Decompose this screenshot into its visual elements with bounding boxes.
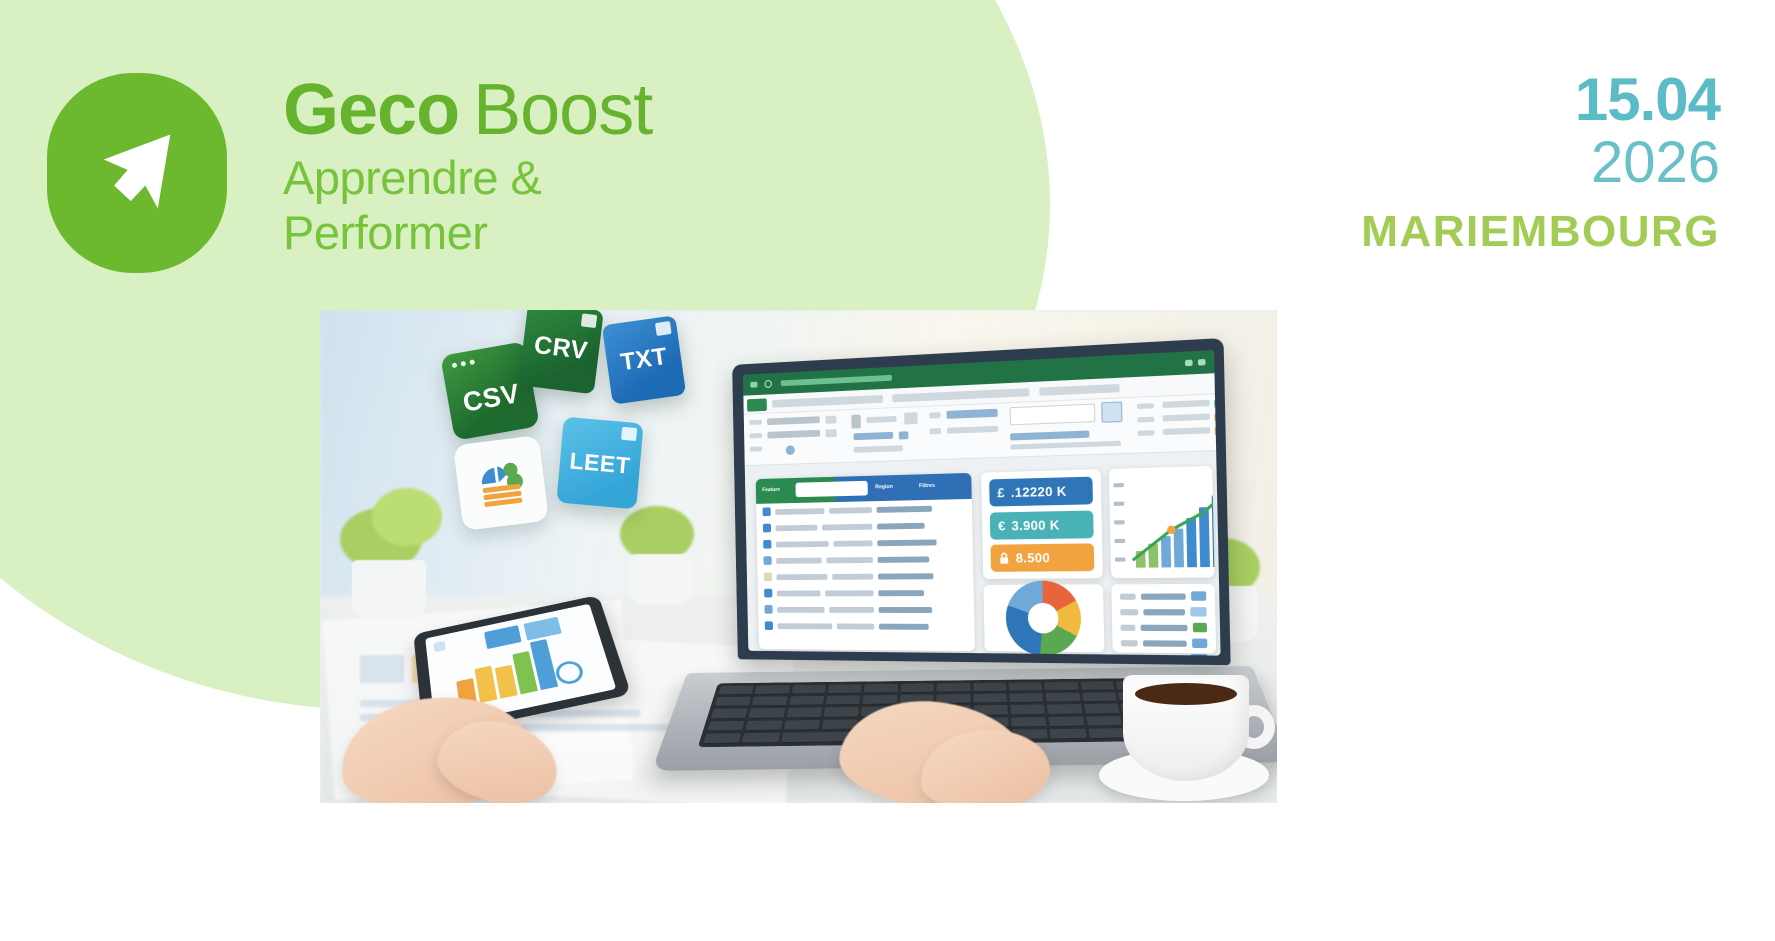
leet-file-icon: LEET (556, 417, 643, 510)
list-cell (1121, 624, 1136, 630)
poster-canvas: GecoBoost Apprendre & Performer 15.04 20… (0, 0, 1775, 941)
list-chip (1193, 623, 1207, 633)
row-cell (878, 590, 924, 596)
list-item[interactable] (1121, 654, 1208, 656)
crv-file-icon: CRV (518, 310, 604, 394)
ribbon-control[interactable] (929, 412, 941, 418)
row-cell (777, 606, 825, 612)
axis-tick-label (1113, 483, 1124, 487)
key[interactable] (973, 694, 1007, 704)
row-cell (833, 540, 872, 546)
laptop-screen: Feature Region Filtres (743, 350, 1221, 656)
desk-text-line (520, 724, 670, 731)
pound-icon: £ (997, 485, 1005, 500)
ribbon-control[interactable] (749, 433, 762, 438)
list-cell (1121, 640, 1138, 646)
kpi-card: £ .12220 K € 3.900 K 8.500 (981, 469, 1103, 579)
row-cell (879, 623, 929, 629)
document-title (781, 375, 892, 386)
row-swatch (763, 524, 771, 533)
key[interactable] (1088, 728, 1125, 739)
table-search-input[interactable] (795, 481, 867, 497)
plant-pot (352, 560, 426, 618)
txt-file-icon: TXT (602, 315, 686, 405)
row-cell (877, 522, 925, 529)
row-swatch (764, 572, 772, 581)
event-location: MARIEMBOURG (1361, 207, 1720, 257)
brand-title-thin: Boost (473, 70, 652, 150)
row-cell (879, 607, 933, 613)
table-header-filter-label[interactable]: Filtres (919, 483, 935, 489)
file-dogear-icon (581, 313, 597, 328)
leet-file-label: LEET (569, 447, 632, 479)
formula-bar[interactable] (772, 395, 883, 408)
table-row[interactable] (757, 550, 973, 569)
table-row[interactable] (757, 567, 973, 585)
key[interactable] (1082, 692, 1117, 702)
key[interactable] (1080, 681, 1115, 690)
ribbon-control[interactable] (767, 430, 820, 439)
table-row[interactable] (758, 617, 974, 635)
selected-cell[interactable] (1101, 401, 1122, 422)
brand-block: GecoBoost Apprendre & Performer (283, 70, 652, 260)
ribbon-control[interactable] (1137, 403, 1154, 409)
back-icon[interactable] (750, 382, 757, 388)
key[interactable] (973, 683, 1007, 693)
list-cell (1141, 593, 1186, 599)
key[interactable] (707, 721, 745, 732)
ribbon-control[interactable] (929, 428, 941, 434)
key[interactable] (1086, 716, 1122, 726)
secondary-list-card (1111, 584, 1216, 654)
list-item[interactable] (1120, 591, 1207, 601)
kpi-pound-value: .12220 K (1011, 483, 1067, 500)
ribbon-control[interactable] (1163, 427, 1210, 435)
row-cell (832, 573, 873, 579)
geco-boost-logo-mark (47, 73, 227, 273)
key[interactable] (864, 684, 898, 694)
key[interactable] (1047, 704, 1082, 714)
donut-chart (1005, 580, 1082, 655)
kpi-euro[interactable]: € 3.900 K (990, 510, 1094, 539)
chart-file-icon (453, 435, 549, 531)
ribbon-control[interactable] (851, 415, 861, 429)
key[interactable] (711, 709, 748, 719)
row-cell (829, 607, 874, 613)
ribbon-control[interactable] (826, 429, 837, 437)
brand-title-bold: Geco (283, 70, 459, 150)
laptop-lid: Feature Region Filtres (732, 338, 1231, 665)
growth-bar-chart (1109, 466, 1215, 578)
row-cell (776, 574, 827, 580)
key[interactable] (718, 686, 754, 696)
tablet-widget (484, 625, 522, 649)
ribbon-control[interactable] (1137, 417, 1154, 423)
tablet-widget (523, 617, 561, 641)
row-cell (878, 556, 930, 562)
window-dots-icon (452, 359, 476, 368)
row-cell (776, 541, 829, 548)
table-row[interactable] (758, 584, 974, 601)
key[interactable] (1044, 682, 1078, 692)
table-header-feature-label: Feature (762, 487, 780, 493)
key[interactable] (748, 708, 785, 718)
row-cell (777, 590, 821, 596)
key[interactable] (703, 733, 742, 744)
axis-tick-label (1114, 520, 1125, 524)
ribbon-control[interactable] (854, 445, 903, 453)
key[interactable] (1011, 717, 1047, 727)
axis-tick-label (1115, 557, 1126, 561)
list-chip (1191, 654, 1208, 655)
file-dogear-icon (655, 321, 672, 336)
kpi-euro-value: 3.900 K (1011, 517, 1059, 533)
key[interactable] (1050, 729, 1087, 740)
key[interactable] (1009, 693, 1043, 703)
row-cell (822, 523, 872, 530)
key[interactable] (745, 720, 782, 731)
ribbon-control[interactable] (825, 416, 836, 424)
key[interactable] (755, 685, 791, 695)
coffee-cup (1123, 675, 1249, 781)
ribbon-control[interactable] (750, 446, 763, 451)
axis-tick-label (1115, 539, 1126, 543)
minimize-icon[interactable] (1185, 360, 1193, 367)
status-dot (1214, 399, 1221, 408)
list-cell (1120, 593, 1136, 599)
ribbon-control[interactable] (786, 445, 795, 455)
ribbon-tab-group[interactable] (1039, 384, 1119, 396)
event-date-block: 15.04 2026 (1575, 70, 1720, 192)
key[interactable] (1010, 705, 1045, 715)
row-cell (826, 557, 873, 563)
dashboard-body: Feature Region Filtres (745, 451, 1221, 655)
key[interactable] (824, 707, 860, 717)
file-dogear-icon (621, 427, 637, 441)
brand-subtitle-line1: Apprendre & (283, 150, 652, 205)
ribbon-control[interactable] (853, 432, 893, 440)
row-cell (775, 524, 817, 531)
cell-reference-box[interactable] (1010, 404, 1096, 426)
kpi-pound[interactable]: £ .12220 K (989, 477, 1093, 507)
list-item[interactable] (1121, 638, 1208, 648)
key[interactable] (791, 685, 826, 695)
key[interactable] (828, 684, 863, 694)
pie-bar-chart-icon (471, 456, 530, 510)
table-header-region-label: Region (875, 484, 893, 490)
row-cell (878, 573, 934, 579)
txt-file-label: TXT (619, 343, 669, 377)
crv-file-label: CRV (533, 330, 590, 365)
key[interactable] (863, 695, 898, 705)
close-icon[interactable] (1198, 359, 1206, 366)
ribbon-control[interactable] (904, 412, 918, 424)
ribbon-control[interactable] (947, 426, 998, 434)
table-row[interactable] (758, 601, 974, 618)
data-table-header: Feature Region Filtres (756, 473, 972, 504)
lock-icon (999, 552, 1010, 565)
row-cell (776, 557, 822, 563)
ribbon-control[interactable] (749, 420, 762, 425)
file-tab[interactable] (747, 398, 767, 411)
key[interactable] (1084, 704, 1120, 714)
event-date-year: 2026 (1575, 134, 1720, 192)
key[interactable] (742, 733, 780, 744)
row-cell (877, 539, 936, 546)
list-item[interactable] (1120, 607, 1207, 616)
plant-foliage (372, 488, 442, 546)
brand-title: GecoBoost (283, 70, 652, 150)
ribbon-control[interactable] (1010, 441, 1121, 450)
key[interactable] (789, 696, 825, 706)
key[interactable] (752, 696, 788, 706)
row-swatch (763, 540, 771, 549)
row-swatch (765, 621, 773, 630)
key[interactable] (1048, 716, 1084, 726)
kpi-locked[interactable]: 8.500 (990, 543, 1094, 571)
plant-pot (630, 554, 692, 604)
ribbon-control[interactable] (1010, 431, 1089, 441)
row-cell (877, 505, 932, 512)
list-chip (1191, 591, 1206, 600)
tablet-widget (433, 641, 445, 653)
list-item[interactable] (1120, 623, 1207, 633)
event-date-day: 15.04 (1575, 70, 1720, 130)
ribbon-control[interactable] (946, 409, 997, 419)
brand-subtitle-line2: Performer (283, 205, 652, 260)
trend-arrow-icon (1128, 473, 1215, 567)
cursor-arrow-icon (85, 121, 189, 225)
row-swatch (764, 605, 772, 614)
row-swatch (764, 589, 772, 598)
row-swatch (763, 556, 771, 565)
status-dot (1214, 413, 1220, 422)
key[interactable] (714, 697, 751, 707)
row-cell (825, 590, 874, 596)
axis-tick-label (1114, 502, 1125, 506)
key[interactable] (826, 696, 861, 706)
row-cell (775, 508, 824, 515)
list-cell (1143, 609, 1185, 615)
ribbon-tab-group[interactable] (892, 388, 1029, 402)
donut-chart-card (983, 584, 1104, 652)
kpi-locked-value: 8.500 (1016, 550, 1051, 566)
list-cell (1120, 609, 1137, 615)
list-cell (1141, 624, 1187, 630)
ribbon-control[interactable] (866, 416, 896, 423)
data-table-card: Feature Region Filtres (756, 473, 975, 651)
desk-chart-tile (360, 655, 404, 683)
tablet-gauge-icon (554, 659, 586, 686)
ribbon-control[interactable] (1137, 430, 1154, 436)
tablet-chart-bar (495, 665, 518, 699)
list-chip (1192, 639, 1208, 649)
status-dot (1215, 427, 1221, 436)
row-cell (829, 507, 872, 514)
key[interactable] (1008, 682, 1042, 692)
list-chip (1190, 607, 1206, 616)
list-cell (1143, 640, 1187, 647)
ribbon-control[interactable] (1163, 413, 1210, 421)
row-cell (777, 623, 832, 629)
search-icon[interactable] (765, 380, 772, 388)
ribbon-control[interactable] (1162, 400, 1209, 408)
ribbon-control[interactable] (899, 431, 909, 439)
key[interactable] (937, 683, 970, 693)
hero-photo: Feature Region Filtres (320, 310, 1277, 803)
key[interactable] (1046, 693, 1081, 703)
row-cell (837, 623, 874, 629)
euro-icon: € (998, 518, 1006, 533)
key[interactable] (783, 720, 820, 731)
ribbon-control[interactable] (767, 416, 820, 425)
csv-file-label: CSV (460, 378, 522, 418)
key[interactable] (786, 708, 822, 718)
key[interactable] (900, 683, 934, 693)
coffee-liquid (1135, 683, 1237, 705)
row-swatch (763, 507, 771, 516)
tablet-chart-bar (475, 666, 498, 703)
